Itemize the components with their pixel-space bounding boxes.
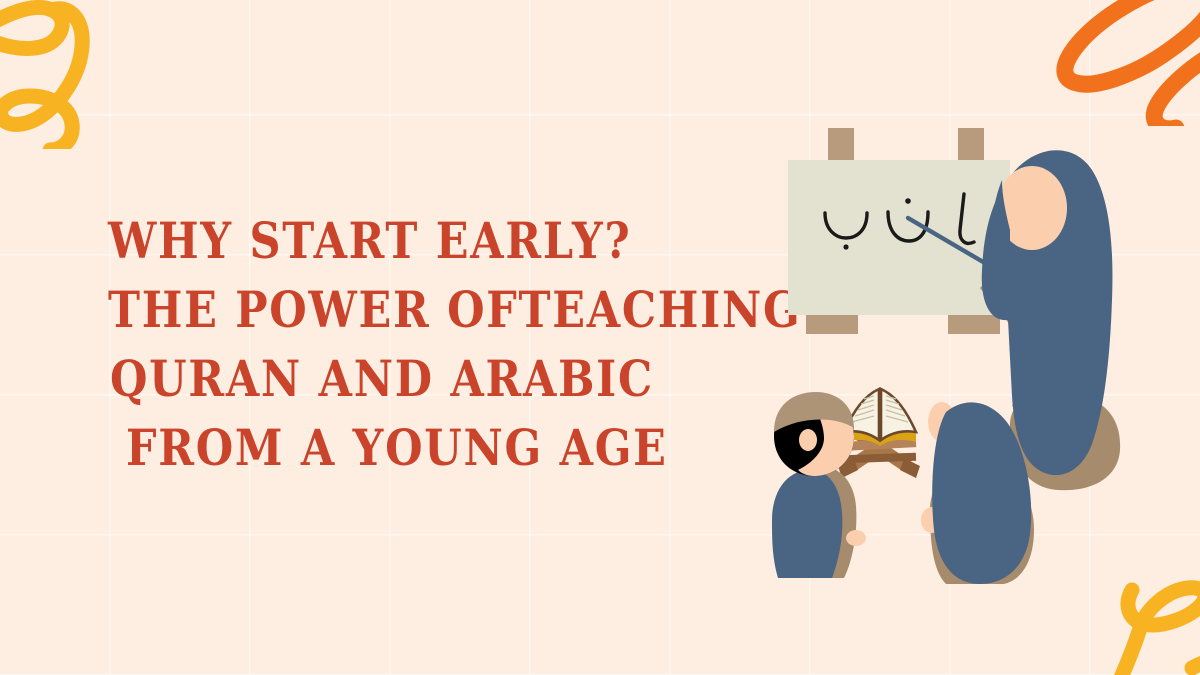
headline-line-4: FROM A YOUNG AGE bbox=[126, 413, 661, 482]
whiteboard-leg-bottom-left bbox=[806, 312, 858, 334]
student-boy bbox=[772, 392, 866, 578]
student-boy-shirt bbox=[772, 470, 842, 578]
student-boy-hand bbox=[846, 530, 866, 546]
whiteboard-leg-top-left bbox=[828, 128, 854, 162]
headline-line-3: QURAN AND ARABIC bbox=[110, 344, 659, 413]
headline-line-2: THE POWER OFTEACHING bbox=[108, 275, 658, 344]
student-boy-ear bbox=[799, 429, 817, 451]
quran-class-illustration bbox=[740, 110, 1200, 590]
slide-canvas: WHY START EARLY? THE POWER OFTEACHING QU… bbox=[0, 0, 1200, 675]
headline-line-1: WHY START EARLY? bbox=[108, 206, 658, 275]
squiggle-top-left-icon bbox=[0, 0, 144, 154]
page-title: WHY START EARLY? THE POWER OFTEACHING QU… bbox=[108, 206, 748, 482]
whiteboard-leg-bottom-right bbox=[948, 312, 1000, 334]
whiteboard-leg-top-right bbox=[958, 128, 984, 162]
